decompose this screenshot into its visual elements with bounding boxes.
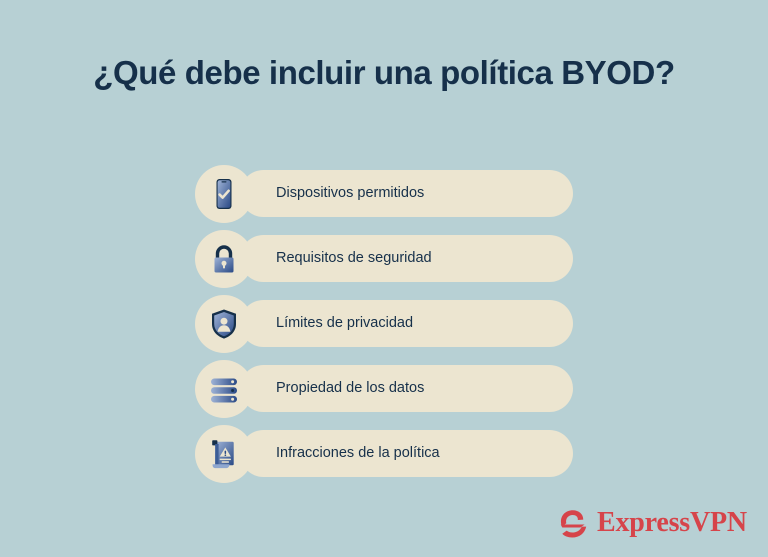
document-warning-icon: [195, 425, 253, 483]
page-title: ¿Qué debe incluir una política BYOD?: [0, 52, 768, 94]
expressvpn-logo: ExpressVPN: [554, 503, 747, 543]
server-stack-icon: [195, 360, 253, 418]
list-item[interactable]: Infracciones de la política: [195, 425, 585, 483]
shield-person-icon: [195, 295, 253, 353]
infographic-canvas: ¿Qué debe incluir una política BYOD?: [0, 0, 768, 557]
checklist: Dispositivos permitidos: [195, 165, 585, 490]
list-item[interactable]: Dispositivos permitidos: [195, 165, 585, 223]
expressvpn-e-logo-icon: [554, 505, 590, 541]
padlock-icon: [195, 230, 253, 288]
list-item[interactable]: Propiedad de los datos: [195, 360, 585, 418]
mobile-phone-check-icon: [195, 165, 253, 223]
list-item[interactable]: Requisitos de seguridad: [195, 230, 585, 288]
item-label: Infracciones de la política: [276, 430, 440, 477]
item-label: Requisitos de seguridad: [276, 235, 432, 282]
item-label: Propiedad de los datos: [276, 365, 424, 412]
brand-name: ExpressVPN: [597, 508, 747, 538]
list-item[interactable]: Límites de privacidad: [195, 295, 585, 353]
item-label: Dispositivos permitidos: [276, 170, 424, 217]
item-label: Límites de privacidad: [276, 300, 413, 347]
